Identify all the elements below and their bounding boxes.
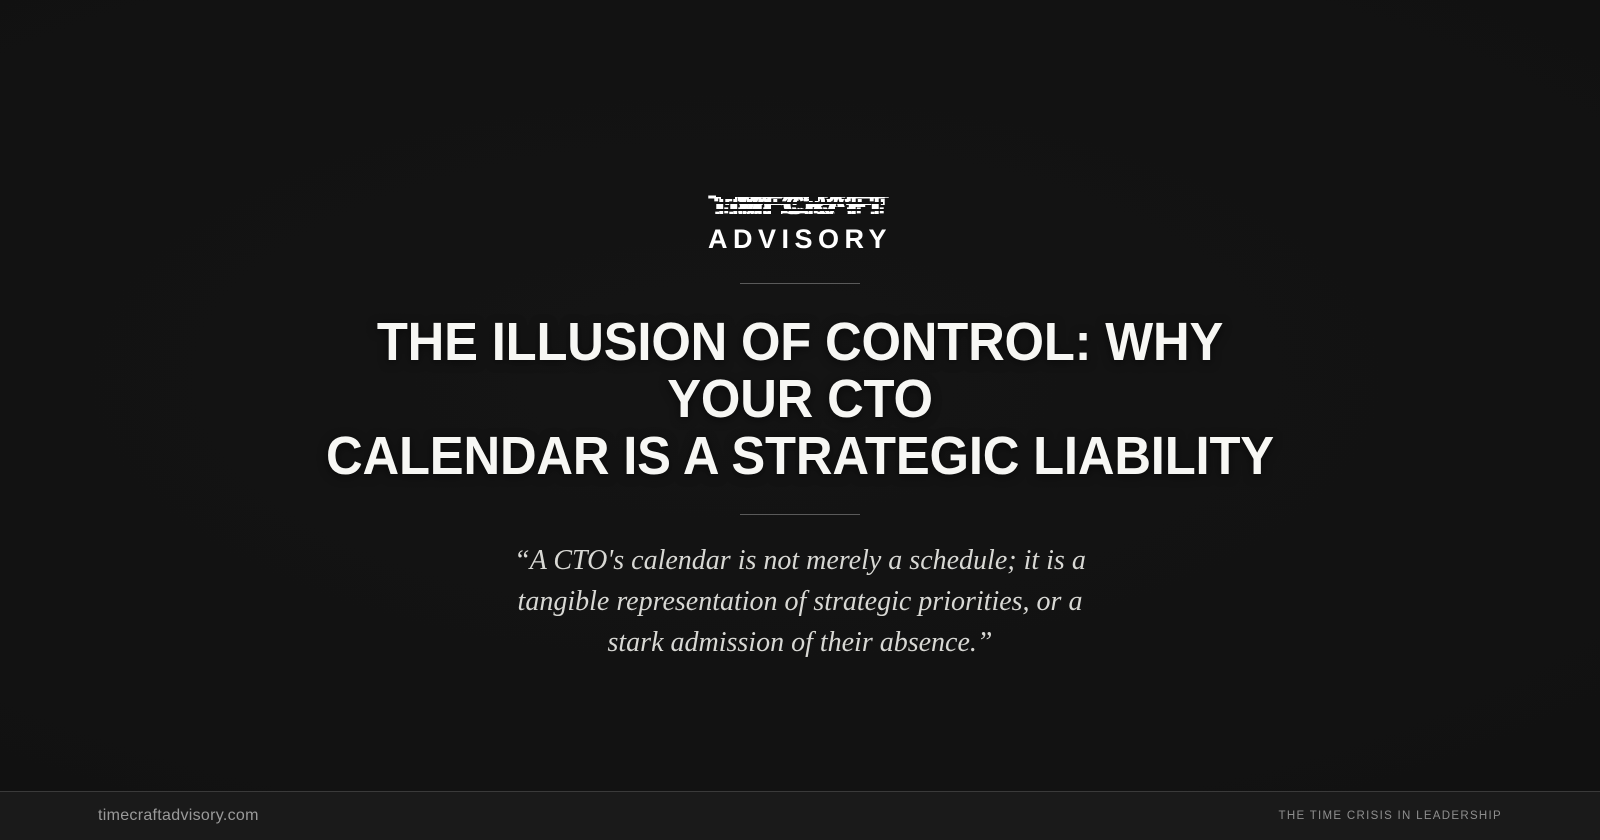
logo-wordmark-text: TIMECRAFT <box>713 190 887 220</box>
logo-wordmark-advisory: ADVISORY <box>708 224 892 255</box>
divider-under-title <box>740 514 860 515</box>
footer-tagline: THE TIME CRISIS IN LEADERSHIP <box>1279 810 1502 822</box>
title-line-1: THE ILLUSION OF CONTROL: WHY YOUR CTO <box>377 312 1223 429</box>
quote-line-1: “A CTO's calendar is not merely a schedu… <box>514 545 1086 576</box>
slide-content: TIMECRAFT TIMECRAFT TIMECRAFT TIMECRAFT … <box>0 0 1600 791</box>
brand-logo: TIMECRAFT TIMECRAFT TIMECRAFT TIMECRAFT … <box>0 190 1600 255</box>
divider-under-logo <box>740 283 860 284</box>
footer-website-url: timecraftadvisory.com <box>98 807 259 825</box>
title-line-2: CALENDAR IS A STRATEGIC LIABILITY <box>326 426 1274 486</box>
page-title: THE ILLUSION OF CONTROL: WHY YOUR CTO CA… <box>302 314 1298 486</box>
presentation-slide: TIMECRAFT TIMECRAFT TIMECRAFT TIMECRAFT … <box>0 0 1600 840</box>
slide-footer: timecraftadvisory.com THE TIME CRISIS IN… <box>0 791 1600 840</box>
pull-quote: “A CTO's calendar is not merely a schedu… <box>460 540 1140 663</box>
quote-line-2: tangible representation of strategic pri… <box>518 586 1083 617</box>
logo-wordmark-timecraft: TIMECRAFT TIMECRAFT TIMECRAFT TIMECRAFT … <box>713 190 887 220</box>
quote-line-3: stark admission of their absence.” <box>608 627 993 658</box>
